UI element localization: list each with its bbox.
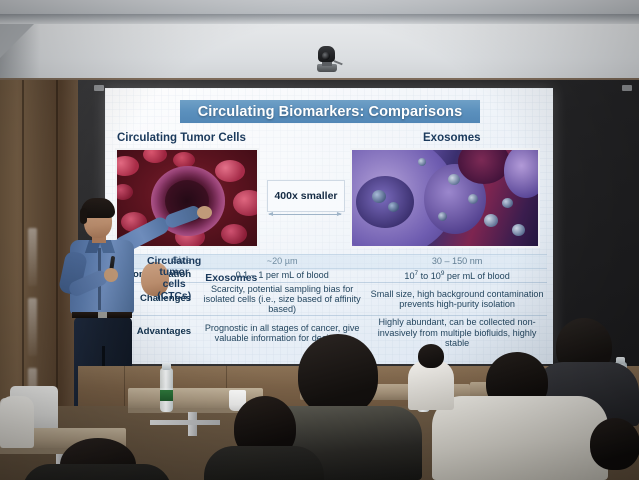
board-clip-left bbox=[94, 85, 104, 91]
conc-post: per mL of blood bbox=[444, 271, 509, 281]
presenter-hair-side bbox=[80, 208, 87, 224]
conc-pre: 10 bbox=[404, 271, 414, 281]
table-header-exosomes: Exosomes bbox=[203, 271, 259, 287]
ceiling-soffit bbox=[0, 14, 639, 24]
comparison-arrow-icon bbox=[269, 214, 341, 215]
board-clip-right bbox=[622, 85, 632, 91]
desk-leg bbox=[150, 420, 220, 425]
presenter-bent-hand bbox=[104, 268, 118, 282]
bottle-cap bbox=[162, 363, 171, 370]
slide-heading-ctc: Circulating Tumor Cells bbox=[117, 132, 246, 144]
ceiling bbox=[0, 0, 639, 14]
wall-corner bbox=[0, 24, 34, 58]
ptz-camera-icon bbox=[316, 46, 338, 72]
row-challenges-ctc: Scarcity, potential sampling bias for is… bbox=[197, 283, 367, 316]
conc-mid: to 10 bbox=[418, 271, 441, 281]
row-challenges-exosomes: Small size, high background contaminatio… bbox=[367, 288, 547, 310]
bottle-label bbox=[160, 390, 173, 401]
lecture-hall-scene: Circulating Biomarkers: Comparisons Circ… bbox=[0, 0, 639, 480]
row-advantages-exosomes: Highly abundant, can be collected non-in… bbox=[367, 316, 547, 349]
exosome-micrograph-image bbox=[350, 148, 540, 248]
belt-buckle bbox=[98, 312, 107, 318]
slide-title: Circulating Biomarkers: Comparisons bbox=[180, 100, 480, 123]
slide-heading-exosomes: Exosomes bbox=[423, 132, 481, 144]
comparison-badge: 400x smaller bbox=[267, 180, 345, 212]
row-concentration-exosomes: 107 to 109 per mL of blood bbox=[367, 269, 547, 282]
presenter-raised-hand bbox=[197, 206, 212, 219]
